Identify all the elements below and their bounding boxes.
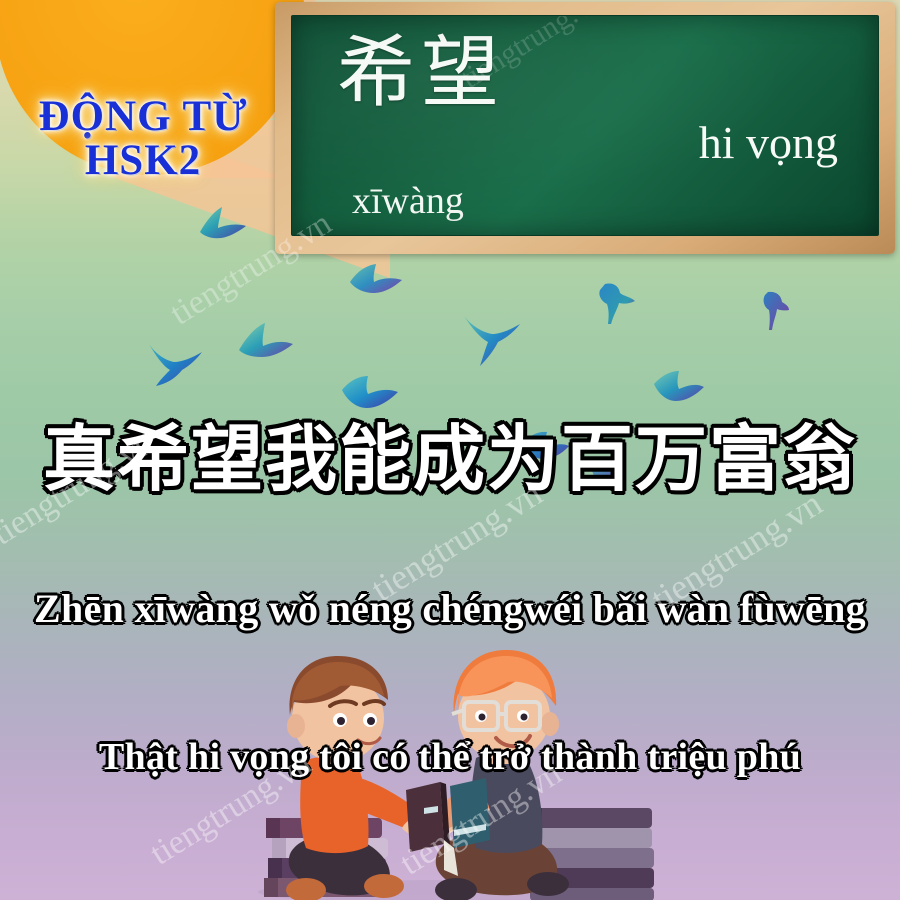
bird-icon — [348, 262, 404, 306]
bird-icon — [146, 336, 204, 392]
hsk-category-badge: ĐỘNG TỪ HSK2 — [8, 95, 278, 183]
word-vietnamese: hi vọng — [699, 116, 838, 169]
bird-icon — [760, 290, 790, 332]
example-vietnamese: Thật hi vọng tôi có thể trở thành triệu … — [0, 735, 900, 779]
badge-line-2: HSK2 — [8, 139, 278, 183]
badge-line-1: ĐỘNG TỪ — [8, 95, 278, 139]
word-hanzi: 希望 — [337, 34, 505, 112]
word-pinyin: xīwàng — [352, 179, 464, 223]
bird-icon — [235, 320, 295, 370]
bird-icon — [196, 204, 252, 254]
blackboard-surface: 希望 xīwàng hi vọng tiengtrung.vn — [291, 15, 879, 236]
blackboard: 希望 xīwàng hi vọng tiengtrung.vn — [275, 2, 895, 254]
bird-icon — [460, 310, 522, 368]
example-pinyin: Zhēn xīwàng wǒ néng chéngwéi bǎi wàn fùw… — [0, 585, 900, 632]
example-chinese: 真希望我能成为百万富翁 — [0, 400, 900, 505]
flashcard-image: ĐỘNG TỪ HSK2 希望 xīwàng hi vọng tiengtrun… — [0, 0, 900, 900]
bird-icon — [595, 280, 637, 328]
